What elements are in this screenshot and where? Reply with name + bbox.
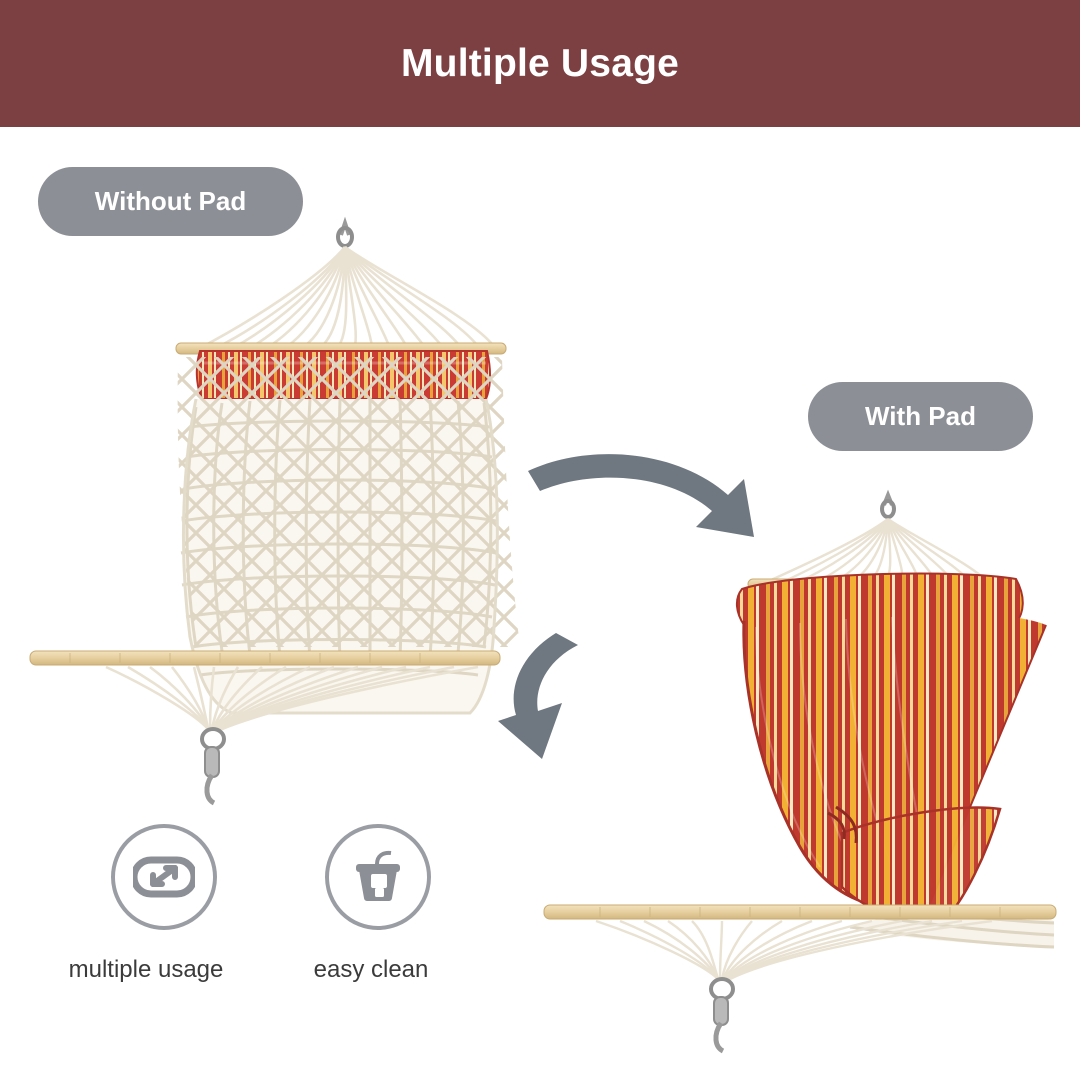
- feature-easy-clean: easy clean: [318, 824, 438, 984]
- feature-circle-1: [111, 824, 217, 930]
- badge-with-pad: With Pad: [808, 382, 1033, 451]
- rope-hammock-with-pad: [544, 495, 1056, 1051]
- badge-with-pad-label: With Pad: [865, 401, 976, 432]
- metal-hook-top-left: [338, 223, 352, 246]
- metal-hook-bottom-left: [202, 729, 224, 803]
- rope-hammock-without-pad: [30, 223, 570, 803]
- feature-multiple-usage: multiple usage: [104, 824, 224, 984]
- striped-quilted-pad: [744, 610, 1046, 920]
- arrow-right-to-left: [498, 633, 578, 759]
- badge-without-pad: Without Pad: [38, 167, 303, 236]
- recycle-loop-icon: [133, 854, 195, 900]
- product-infographic: Multiple Usage: [0, 0, 1080, 1080]
- hanging-ropes-bottom-right: [596, 921, 992, 979]
- arrow-left-to-right: [528, 454, 754, 537]
- feature-label-1: multiple usage: [68, 956, 224, 984]
- hanging-ropes-top-left: [198, 247, 496, 349]
- metal-hook-top-right: [882, 495, 894, 517]
- page-title: Multiple Usage: [401, 42, 679, 86]
- metal-hook-bottom-right: [711, 979, 733, 1051]
- feature-label-2: easy clean: [304, 956, 438, 984]
- wooden-spreader-bar-bottom-left: [30, 651, 500, 665]
- pad-folded-corner: [828, 807, 1000, 920]
- feature-circle-2: [325, 824, 431, 930]
- header-banner: Multiple Usage: [0, 0, 1080, 127]
- bucket-cleaning-icon: [349, 850, 407, 904]
- badge-without-pad-label: Without Pad: [95, 186, 246, 217]
